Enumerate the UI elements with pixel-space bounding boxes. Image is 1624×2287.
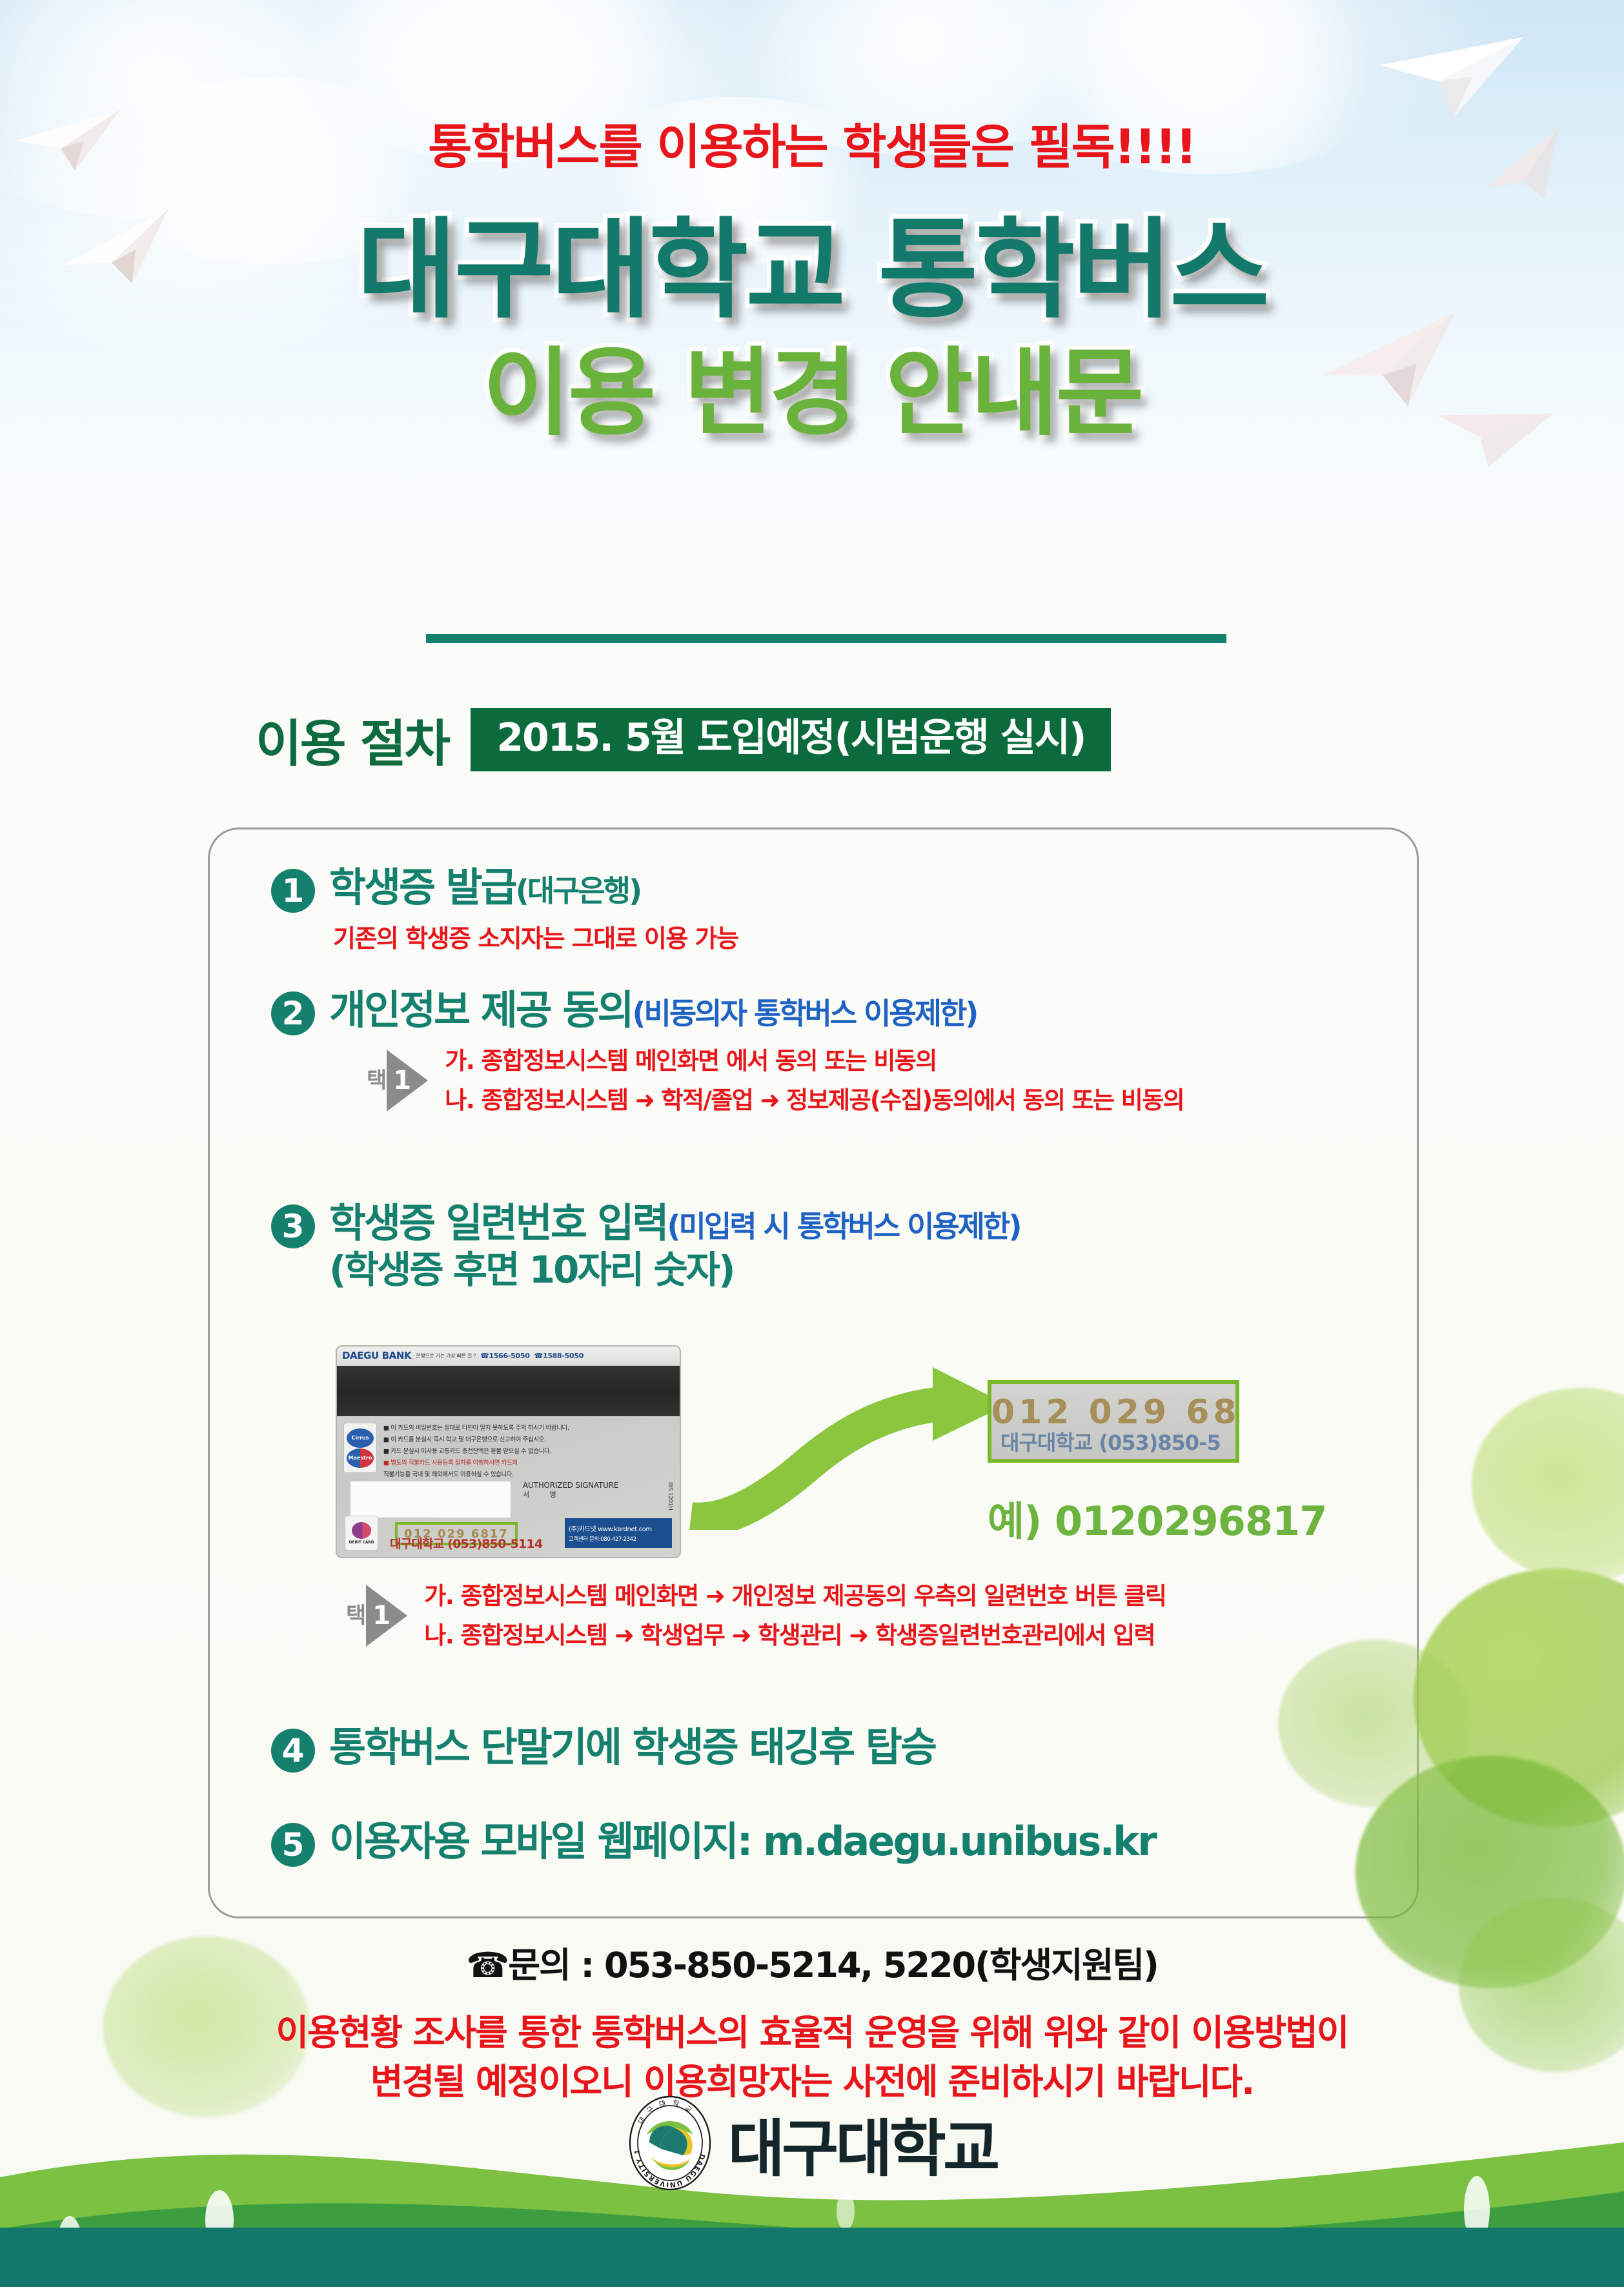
step-item-1: 1 학생증 발급(대구은행) 기존의 학생증 소지자는 그대로 이용 가능 — [271, 865, 738, 954]
step-title-text: 개인정보 제공 동의 — [329, 986, 633, 1033]
step-subtext: 기존의 학생증 소지자는 그대로 이용 가능 — [333, 919, 738, 954]
kardnet-line-2: 고객센터 문의:080-427-2342 — [569, 1535, 668, 1543]
debit-card-label: DEBIT CARD — [349, 1540, 374, 1545]
magnified-serial-callout: 012 029 6817 대구대학교 (053)850-5 — [988, 1380, 1239, 1463]
signature-strip — [350, 1481, 511, 1518]
section-schedule-badge: 2015. 5월 도입예정(시범운행 실시) — [471, 708, 1111, 772]
step-subtitle: (학생증 후면 10자리 숫자) — [329, 1249, 1020, 1291]
step-title-paren: (비동의자 통학버스 이용제한) — [633, 996, 977, 1031]
school-phone-text: 대구대학교 (053)850-5114 — [390, 1534, 542, 1552]
choose-label: 택 — [346, 1605, 365, 1627]
choose-label: 택 — [367, 1070, 385, 1092]
card-illustration-area: DAEGU BANK 은행으로 가는 가장 빠른 길 ? ☎1566-5050 … — [336, 1336, 1355, 1562]
divider-bar — [426, 634, 1226, 643]
step-number-badge: 2 — [271, 991, 315, 1035]
green-curved-arrow-icon — [613, 1362, 1026, 1530]
step-item-4: 4 통학버스 단말기에 학생증 태깅후 탑승 — [271, 1725, 935, 1773]
debit-dot-icon — [352, 1522, 371, 1539]
card-bank-name: DAEGU BANK — [342, 1350, 411, 1361]
choice-line: 나. 종합정보시스템 ➜ 학생업무 ➜ 학생관리 ➜ 학생증일련번호관리에서 입… — [424, 1622, 1166, 1650]
authorized-signature-label: AUTHORIZED SIGNATURE 서 명 — [523, 1481, 618, 1499]
choose-one-marker: 택 1 — [346, 1585, 407, 1647]
card-phone-2: ☎1588-5050 — [534, 1352, 584, 1360]
step-item-2: 2 개인정보 제공 동의(비동의자 통학버스 이용제한) 택 1 가. 종합정보… — [271, 988, 1184, 1115]
step-item-3: 3 학생증 일련번호 입력(미입력 시 통학버스 이용제한) (학생증 후면 1… — [271, 1201, 1020, 1291]
section-header: 이용 절차 2015. 5월 도입예정(시범운행 실시) — [256, 704, 1111, 776]
maestro-icon: Maestro — [347, 1448, 374, 1468]
choose-number: 1 — [393, 1068, 411, 1093]
contact-info: ☎문의 : 053-850-5214, 5220(학생지원팀) — [0, 1936, 1624, 1987]
university-seal-icon: 대 구 대 학 교 DAEGU UNIVERSITY 1956 — [627, 2095, 713, 2191]
headline-notice: 통학버스를 이용하는 학생들은 필독!!!! — [0, 108, 1624, 178]
university-logo-row: 대 구 대 학 교 DAEGU UNIVERSITY 1956 대구대학교 — [0, 2095, 1624, 2191]
choose-triangle: 1 — [387, 1050, 428, 1112]
choice-list: 가. 종합정보시스템 메인화면 ➜ 개인정보 제공동의 우측의 일련번호 버튼 … — [424, 1581, 1166, 1649]
step-title-paren: (대구은행) — [516, 873, 640, 908]
choice-list: 가. 종합정보시스템 메인화면 에서 동의 또는 비동의 나. 종합정보시스템 … — [445, 1046, 1184, 1114]
poster-root: 통학버스를 이용하는 학생들은 필독!!!! 대구대학교 통학버스 이용 변경 … — [0, 0, 1624, 2287]
magnified-serial-number: 012 029 6817 — [991, 1393, 1235, 1432]
step-number-badge: 4 — [271, 1729, 315, 1773]
step-title: 이용자용 모바일 웹페이지: m.daegu.unibus.kr — [329, 1819, 1155, 1864]
step-title-text: 학생증 발급 — [329, 864, 516, 911]
step-title: 학생증 발급(대구은행) — [329, 865, 738, 910]
step-title-paren: (미입력 시 통학버스 이용제한) — [667, 1209, 1020, 1244]
step-number-badge: 1 — [271, 869, 315, 913]
choice-line: 가. 종합정보시스템 메인화면 ➜ 개인정보 제공동의 우측의 일련번호 버튼 … — [424, 1583, 1166, 1611]
watercolor-blob — [1472, 1388, 1624, 1581]
authorized-signature-kr: 서 명 — [523, 1490, 618, 1499]
example-serial-text: 예) 0120296817 — [988, 1489, 1326, 1547]
magnified-under-prefix: 대구대학교 (053)850-5 — [1000, 1430, 1221, 1455]
title-line-2: 이용 변경 안내문 — [0, 343, 1624, 443]
step-title: 개인정보 제공 동의(비동의자 통학버스 이용제한) — [329, 988, 1184, 1032]
card-phone-1: ☎1566-5050 — [480, 1352, 530, 1360]
debit-card-logo: DEBIT CARD — [345, 1516, 378, 1550]
card-bank-tagline: 은행으로 가는 가장 빠른 길 ? — [416, 1352, 476, 1359]
cirrus-maestro-logos: Cirrus Maestro — [343, 1423, 377, 1473]
step-title-text: 학생증 일련번호 입력 — [329, 1199, 667, 1246]
poster-title: 대구대학교 통학버스 이용 변경 안내문 — [0, 213, 1624, 444]
choose-number: 1 — [372, 1603, 391, 1629]
section-title: 이용 절차 — [256, 704, 449, 776]
title-line-1: 대구대학교 통학버스 — [0, 213, 1624, 327]
step-title: 통학버스 단말기에 학생증 태깅후 탑승 — [329, 1725, 935, 1769]
step-number-badge: 5 — [271, 1823, 315, 1867]
choose-triangle: 1 — [366, 1585, 407, 1647]
step-item-5: 5 이용자용 모바일 웹페이지: m.daegu.unibus.kr — [271, 1819, 1155, 1867]
step-3-choices: 택 1 가. 종합정보시스템 메인화면 ➜ 개인정보 제공동의 우측의 일련번호… — [346, 1581, 1166, 1649]
authorized-signature-en: AUTHORIZED SIGNATURE — [523, 1481, 618, 1490]
university-name: 대구대학교 — [728, 2099, 997, 2188]
choose-one-marker: 택 1 — [367, 1050, 428, 1112]
choice-line: 나. 종합정보시스템 ➜ 학적/졸업 ➜ 정보제공(수집)동의에서 동의 또는 … — [445, 1087, 1184, 1115]
cirrus-icon: Cirrus — [347, 1428, 374, 1448]
choice-line: 가. 종합정보시스템 메인화면 에서 동의 또는 비동의 — [445, 1048, 1184, 1075]
footer-bar — [0, 2228, 1624, 2287]
step-number-badge: 3 — [271, 1204, 315, 1248]
magnified-underline-text: 대구대학교 (053)850-5 — [1000, 1427, 1221, 1456]
step-title: 학생증 일련번호 입력(미입력 시 통학버스 이용제한) — [329, 1201, 1020, 1245]
watercolor-blob — [1414, 1569, 1624, 1827]
